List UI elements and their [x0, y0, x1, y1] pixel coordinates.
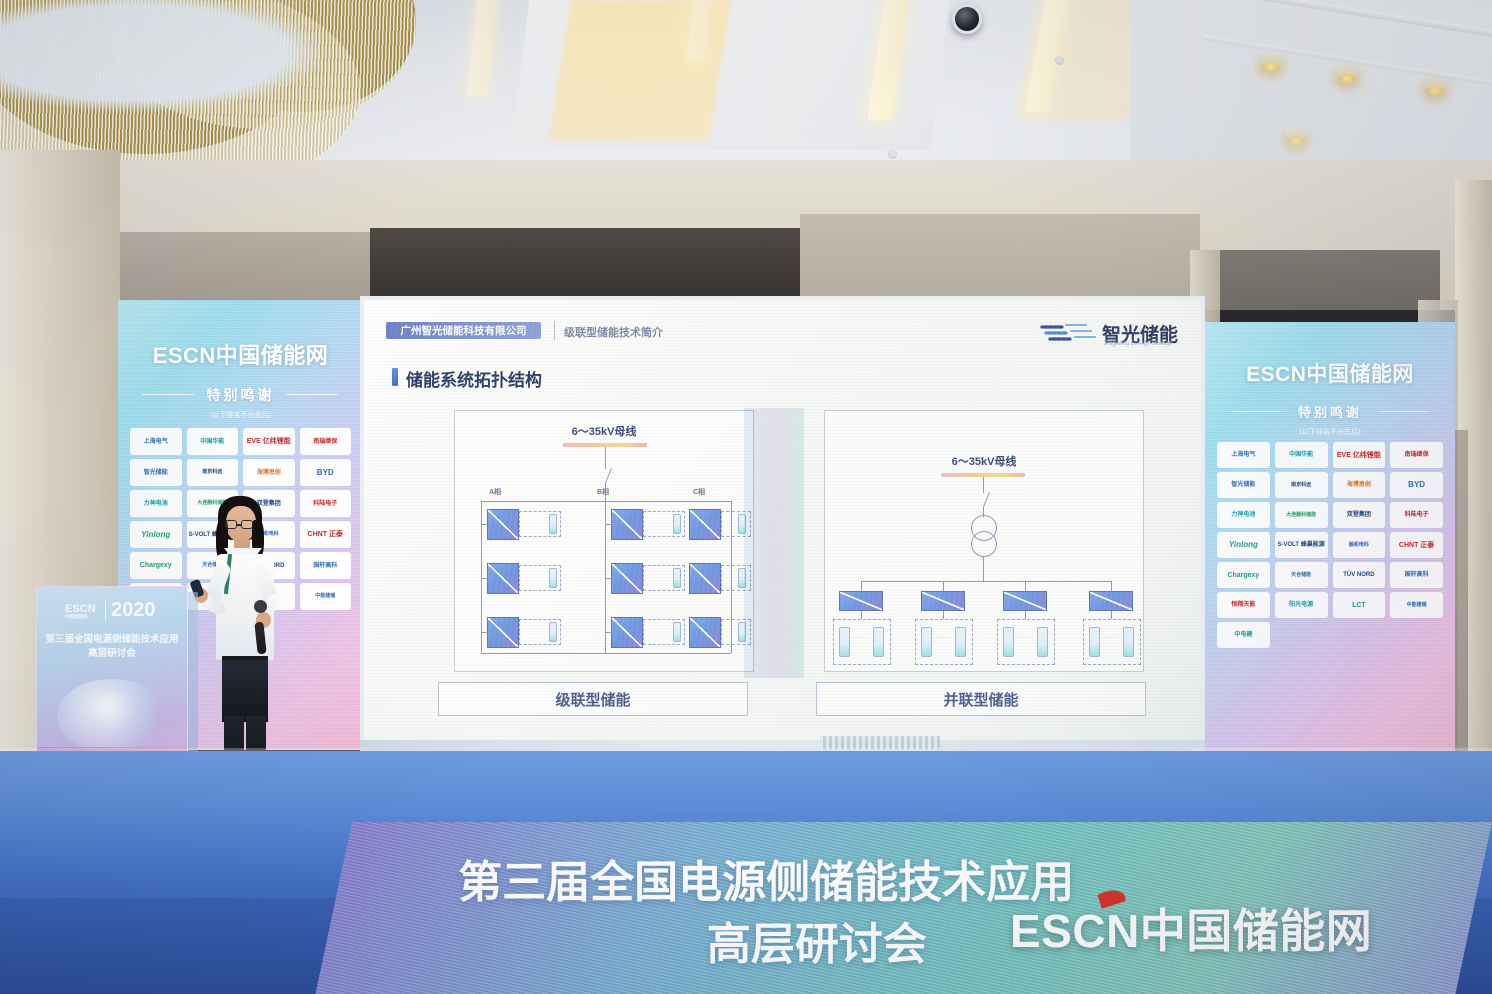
battery-cell: [549, 514, 557, 534]
sponsor-logo: S-VOLT 蜂巢能源: [1275, 532, 1328, 558]
presentation-slide: 广州智光储能科技有限公司 级联型储能技术简介 智光储能 Zhiguang Ene…: [364, 300, 1201, 740]
eyeglasses-icon: [241, 520, 253, 529]
sponsor-logo: 海博思创: [1333, 472, 1386, 498]
wall-recess: [1190, 250, 1440, 330]
battery-cell: [738, 568, 746, 588]
battery-cell: [839, 627, 850, 657]
watermark: ESCN中国储能网: [1010, 895, 1372, 961]
microphone-head: [254, 600, 267, 613]
caption-cascaded: 级联型储能: [438, 682, 748, 716]
battery-cell: [1037, 627, 1048, 657]
podium-title-1: 第三届全国电源侧储能技术应用: [37, 631, 187, 645]
podium-year: 2020: [111, 599, 156, 622]
banner-thanks-left: 特别鸣谢: [207, 387, 275, 403]
speaker-presenter: [196, 496, 336, 786]
sponsor-logo: 上海电气: [1217, 442, 1270, 468]
pcs-module: [611, 617, 643, 648]
sponsor-logo: EVE 亿纬锂能: [243, 428, 295, 455]
battery-box: [721, 565, 751, 591]
sponsor-logo: 上海电气: [130, 428, 182, 455]
battery-box: [721, 619, 751, 645]
pcs-module: [921, 591, 965, 611]
sponsor-logo: CHNT 正泰: [1390, 532, 1443, 558]
pcs-module: [1089, 591, 1133, 611]
sponsor-logo: Chargexy: [130, 552, 182, 579]
diagram-cascaded: 6～35kV母线 A相 B相 C相: [454, 410, 754, 672]
podium-title-2: 高层研讨会: [37, 645, 187, 659]
conference-hall-photo: ESCN中国储能网 特别鸣谢 (以下排名不分先后) 上海电气 中国华能 EVE …: [0, 0, 1492, 994]
pcs-module: [689, 563, 721, 594]
sponsor-logo: Yinlong: [130, 521, 182, 548]
slide-subtitle: 级联型储能技术简介: [564, 324, 663, 340]
pcs-module: [839, 591, 883, 611]
sponsor-logo-grid-right: 上海电气 中国华能 EVE 亿纬锂能 南瑞继保 智光储能 南京科远 海博思创 B…: [1217, 442, 1443, 648]
slide-section-title: 储能系统拓扑结构: [406, 366, 542, 391]
banner-brand-left: ESCN中国储能网: [153, 343, 329, 368]
phase-label-b: B相: [597, 487, 609, 497]
pcs-module: [487, 509, 519, 540]
battery-box: [721, 511, 751, 537]
led-floor-line1: 第三届全国电源侧储能技术应用: [458, 846, 1074, 910]
sponsor-logo: 恒翔天能: [1217, 592, 1270, 618]
banner-thanks-note-right: (以下排名不分先后): [1300, 429, 1361, 436]
banner-thanks-right: 特别鸣谢: [1298, 405, 1362, 420]
sponsor-logo: BYD: [300, 459, 352, 486]
sponsor-logo: 智光储能: [1217, 472, 1270, 498]
bus-label-right: 6～35kV母线: [825, 453, 1143, 469]
banner-brand-right: ESCN中国储能网: [1246, 363, 1414, 386]
security-camera-icon: [952, 4, 982, 34]
battery-cell: [738, 622, 746, 642]
ceiling-spotlight: [1336, 66, 1358, 82]
battery-cell: [955, 627, 966, 657]
battery-cell: [673, 568, 681, 588]
podium-brand-sub: 中国储能网: [65, 614, 88, 620]
sponsor-logo: 国轩高科: [1390, 562, 1443, 588]
ellipsis: ······: [1101, 635, 1117, 641]
sponsor-logo: 中能建储: [1390, 592, 1443, 618]
banner-thanks-note-left: (以下排名不分先后): [210, 412, 271, 419]
led-floor-line2: 高层研讨会: [707, 908, 927, 972]
phase-label-a: A相: [489, 487, 501, 497]
battery-cell: [1003, 627, 1014, 657]
section-accent-bar: [392, 368, 398, 386]
diagram-parallel: 6～35kV母线 ······: [824, 410, 1144, 672]
battery-cell: [673, 622, 681, 642]
ceiling-spotlight: [1260, 54, 1282, 70]
sponsor-logo: Yinlong: [1217, 532, 1270, 558]
wall-band: [120, 232, 370, 308]
zhiguang-logo-icon: [1040, 320, 1098, 346]
ellipsis: ······: [1015, 635, 1031, 641]
ceiling-spotlight: [1424, 78, 1446, 94]
pcs-module: [689, 509, 721, 540]
sponsor-logo: 科陆电子: [1390, 502, 1443, 528]
sponsor-logo: 力神电池: [130, 490, 182, 517]
sponsor-logo: 南京科远: [1275, 472, 1328, 498]
ellipsis: ······: [851, 635, 867, 641]
sponsor-logo: BYD: [1390, 472, 1443, 498]
phase-label-c: C相: [693, 487, 705, 497]
sponsor-logo: Chargexy: [1217, 562, 1270, 588]
slide-company-tag: 广州智光储能科技有限公司: [386, 322, 541, 339]
battery-cell: [673, 514, 681, 534]
eyeglasses-icon: [225, 520, 237, 529]
ceiling-spotlight: [1285, 128, 1307, 144]
pcs-module: [487, 563, 519, 594]
battery-cell: [549, 622, 557, 642]
sponsor-logo: 南瑞继保: [1390, 442, 1443, 468]
transformer-icon: [971, 531, 997, 557]
sponsor-logo: 阳光电源: [1275, 592, 1328, 618]
battery-cell: [1089, 627, 1100, 657]
sponsor-logo: TÜV NORD: [1333, 562, 1386, 588]
caption-parallel: 并联型储能: [816, 682, 1146, 716]
sponsor-logo: 天合储能: [1275, 562, 1328, 588]
sponsor-logo: 中电建: [1217, 622, 1270, 648]
pcs-module: [487, 617, 519, 648]
podium-artwork: [89, 691, 143, 731]
sponsor-logo: 大连融科储能: [1275, 502, 1328, 528]
bus-label-left: 6～35kV母线: [455, 423, 753, 439]
sponsor-logo: EVE 亿纬锂能: [1333, 442, 1386, 468]
sponsor-banner-right: ESCN中国储能网 特别鸣谢 (以下排名不分先后) 上海电气 中国华能 EVE …: [1205, 322, 1455, 752]
sponsor-logo: 力神电池: [1217, 502, 1270, 528]
battery-cell: [921, 627, 932, 657]
ellipsis: ······: [933, 635, 949, 641]
sponsor-logo: LCT: [1333, 592, 1386, 618]
sponsor-logo: 中国华能: [1275, 442, 1328, 468]
brand-name-en: Zhiguang Energy Storage: [1104, 341, 1172, 347]
battery-cell: [873, 627, 884, 657]
sponsor-logo: 南京科远: [187, 459, 239, 486]
pcs-module: [611, 563, 643, 594]
battery-cell: [1123, 627, 1134, 657]
sponsor-logo: 南瑞继保: [300, 428, 352, 455]
battery-cell: [738, 514, 746, 534]
pcs-module: [611, 509, 643, 540]
sponsor-logo: 中国华能: [187, 428, 239, 455]
battery-cell: [549, 568, 557, 588]
sponsor-logo: 海博思创: [243, 459, 295, 486]
pcs-module: [689, 617, 721, 648]
sponsor-logo: 融和电科: [1333, 532, 1386, 558]
sponsor-logo: 智光储能: [130, 459, 182, 486]
sponsor-logo: 双登集团: [1333, 502, 1386, 528]
pcs-module: [1003, 591, 1047, 611]
